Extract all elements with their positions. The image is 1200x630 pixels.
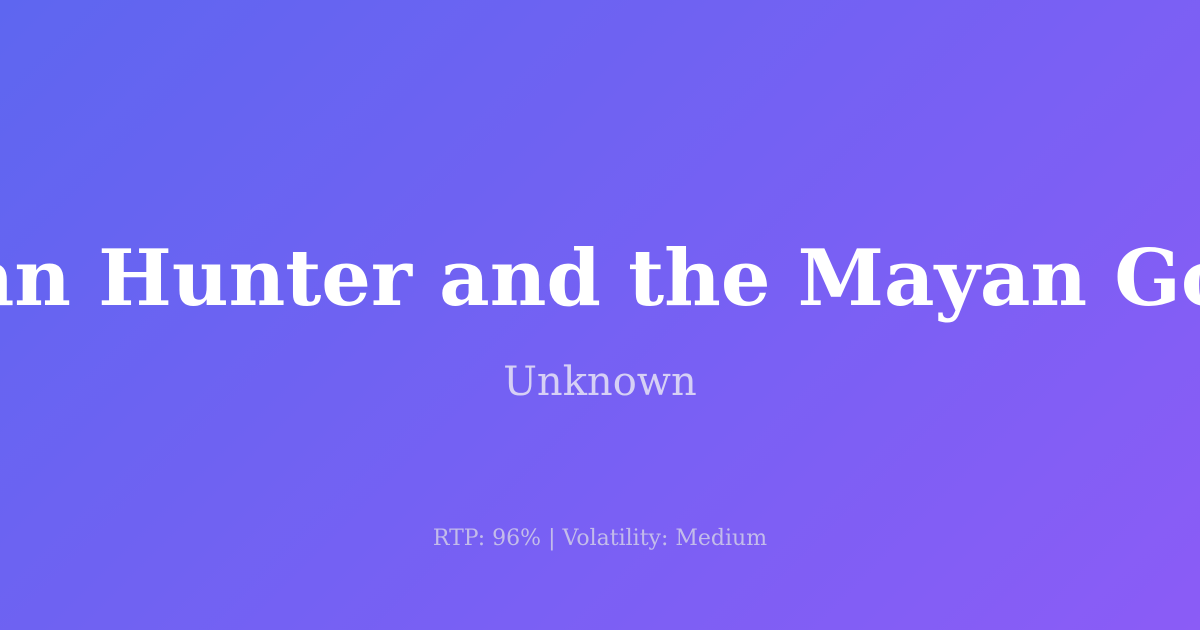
meta-container: RTP: 96% | Volatility: Medium [0, 525, 1200, 554]
provider-container: Unknown [0, 358, 1200, 406]
game-meta-line: RTP: 96% | Volatility: Medium [0, 525, 1200, 554]
game-preview-card: John Hunter and the Mayan Gods Unknown R… [0, 0, 1200, 630]
title-container: John Hunter and the Mayan Gods [0, 0, 1200, 318]
game-provider: Unknown [0, 358, 1200, 406]
page-title: John Hunter and the Mayan Gods [0, 240, 1200, 318]
